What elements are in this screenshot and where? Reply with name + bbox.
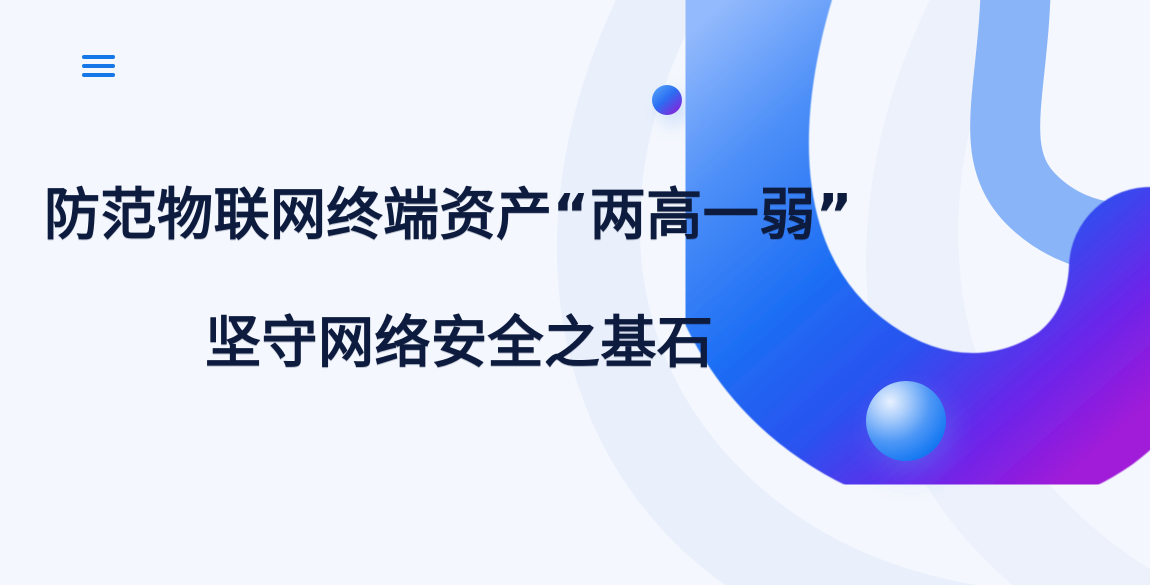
menu-bar-top: [82, 55, 115, 59]
small-gradient-sphere: [652, 85, 682, 115]
menu-bar-middle: [82, 64, 115, 68]
hamburger-menu-icon[interactable]: [82, 50, 118, 82]
title-line-2: 坚守网络安全之基石: [0, 314, 900, 374]
large-blue-sphere: [866, 381, 946, 461]
pale-ring-arc-outer: [866, 0, 1150, 585]
slide-canvas: 防范物联网终端资产“两高一弱” 坚守网络安全之基石: [0, 0, 1150, 585]
light-blue-arc: [1005, 0, 1150, 241]
title-line-1: 防范物联网终端资产“两高一弱”: [0, 186, 900, 246]
slide-title-block: 防范物联网终端资产“两高一弱” 坚守网络安全之基石: [0, 186, 900, 375]
menu-bar-bottom: [82, 73, 115, 77]
